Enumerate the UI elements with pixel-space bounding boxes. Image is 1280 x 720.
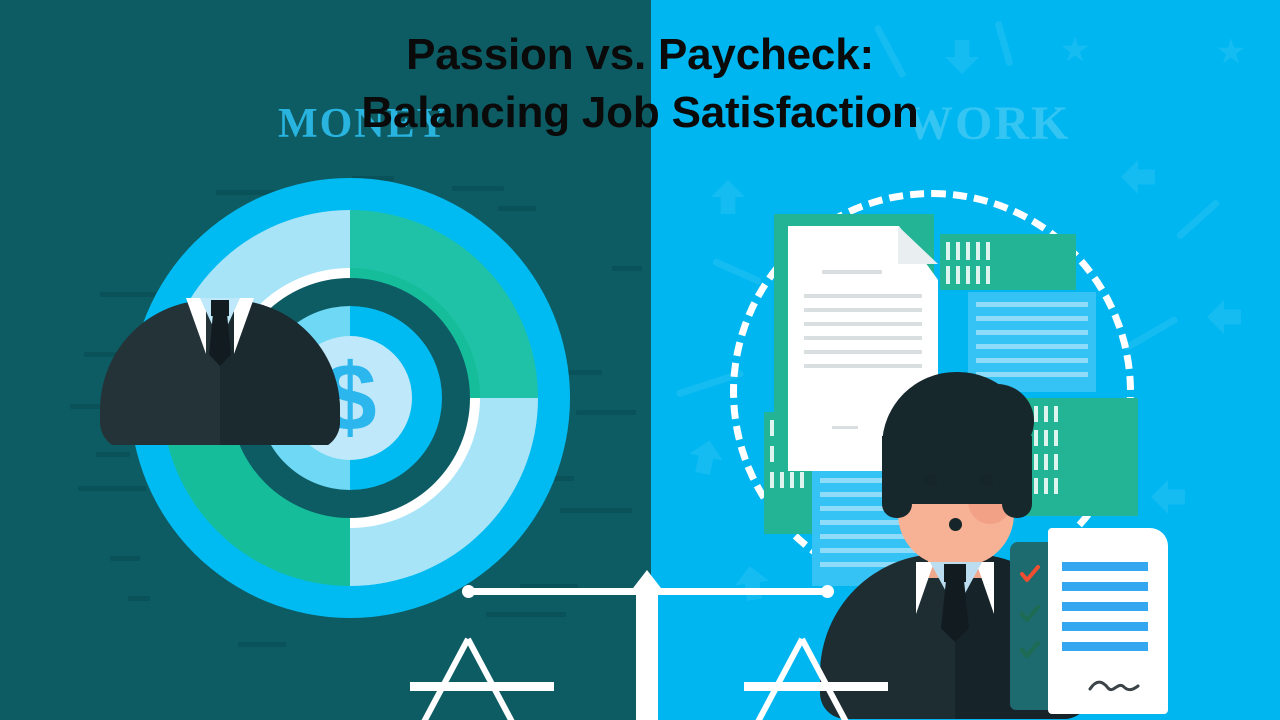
- worker-collar-left: [916, 562, 934, 614]
- checklist-line-4: [1062, 622, 1148, 631]
- signed-checklist: [1010, 528, 1170, 720]
- worker-hair-left: [882, 436, 912, 518]
- checklist-line-3: [1062, 602, 1148, 611]
- scale-pan-left: [406, 590, 556, 690]
- checklist-line-1: [1062, 562, 1148, 571]
- worker-eye-left: [924, 474, 937, 487]
- checklist-line-5: [1062, 642, 1148, 651]
- worker-collar-right: [976, 562, 994, 614]
- scale-pan-right-base: [744, 682, 888, 691]
- scale-pan-left-cord-a: [413, 638, 471, 720]
- scale-pan-right: [740, 590, 890, 690]
- collar-right: [234, 298, 254, 354]
- scale-pan-right-cord-a: [747, 638, 805, 720]
- data-panel-green-top: [940, 234, 1076, 290]
- checkmark-icon-2: [1020, 604, 1040, 624]
- checklist-line-2: [1062, 582, 1148, 591]
- checkmark-icon-3: [1020, 640, 1040, 660]
- slide-canvas: MONEY WORK $: [0, 0, 1280, 720]
- page-title: Passion vs. Paycheck: Balancing Job Sati…: [0, 26, 1280, 142]
- scale-fulcrum: [630, 570, 664, 592]
- collar-left: [186, 298, 206, 354]
- scale-pan-left-base: [410, 682, 554, 691]
- page-title-line-1: Passion vs. Paycheck:: [0, 26, 1280, 84]
- page-title-line-2: Balancing Job Satisfaction: [0, 84, 1280, 142]
- scale-pan-left-cord-b: [465, 638, 523, 720]
- worker-tie-knot: [944, 564, 966, 582]
- worker-eye-right: [980, 474, 993, 487]
- scale-post: [636, 590, 658, 720]
- checkmark-icon-1: [1020, 564, 1040, 584]
- signature-squiggle: [1088, 678, 1140, 694]
- tie-knot: [211, 300, 229, 316]
- balance-scale: [448, 566, 848, 720]
- businessman-silhouette: [100, 270, 340, 445]
- worker-hair-fringe: [938, 384, 1034, 458]
- worker-mouth: [949, 518, 962, 531]
